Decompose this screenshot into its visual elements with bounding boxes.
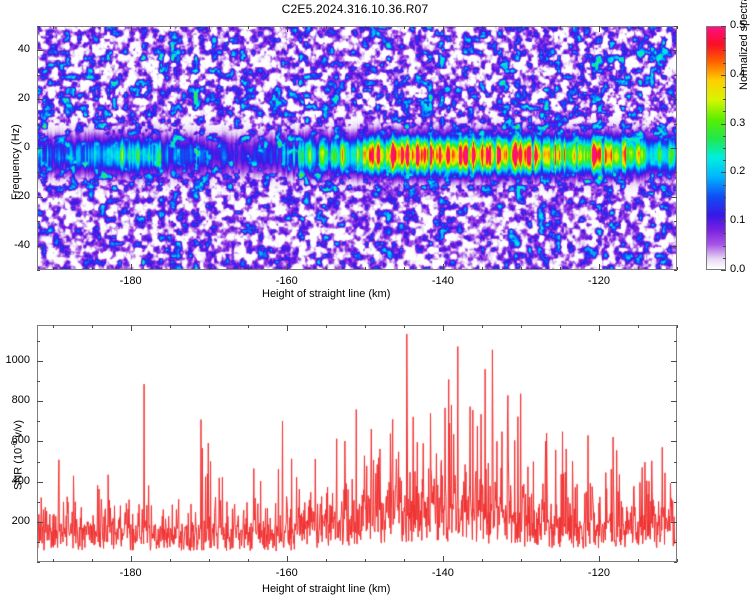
snr-xtick-minor xyxy=(560,559,561,562)
snr-ytick-major xyxy=(37,441,43,442)
snr-ytick-minor-right xyxy=(674,341,677,342)
spectrogram-ytick-major-right xyxy=(671,99,677,100)
snr-ytick-label: 1000 xyxy=(0,354,30,366)
snr-xtick-minor xyxy=(404,559,405,562)
snr-ytick-minor xyxy=(37,421,40,422)
snr-xtick-major-top xyxy=(287,325,288,331)
spectrogram-xtick-minor xyxy=(248,267,249,270)
snr-ytick-major-right xyxy=(671,361,677,362)
spectrogram-xtick-major-top xyxy=(443,26,444,32)
snr-xtick-label: -160 xyxy=(264,567,310,579)
spectrogram-xtick-minor xyxy=(170,267,171,270)
spectrogram-y-axis-title: Frequency (Hz) xyxy=(10,124,22,200)
snr-xtick-major xyxy=(131,556,132,562)
snr-xtick-minor-top xyxy=(677,325,678,328)
snr-ytick-major xyxy=(37,482,43,483)
spectrogram-xtick-minor xyxy=(365,267,366,270)
snr-y-axis-title-exponent: -6 xyxy=(10,441,19,448)
snr-xtick-minor xyxy=(92,559,93,562)
colorbar-title: Normalized spectral amplitude xyxy=(738,0,750,90)
snr-xtick-minor-top xyxy=(560,325,561,328)
spectrogram-xtick-minor-top xyxy=(404,26,405,29)
snr-ytick-major-right xyxy=(671,522,677,523)
spectrogram-xtick-minor-top xyxy=(92,26,93,29)
snr-y-axis-title: SNR (10-6 v/v) xyxy=(10,420,25,490)
colorbar-tick-minor xyxy=(723,87,726,88)
spectrogram-ytick-major-right xyxy=(671,148,677,149)
snr-xtick-minor xyxy=(170,559,171,562)
snr-xtick-major-top xyxy=(131,325,132,331)
snr-xtick-major xyxy=(287,556,288,562)
snr-ytick-minor xyxy=(37,542,40,543)
colorbar-tick-major xyxy=(721,270,726,271)
spectrogram-xtick-major-top xyxy=(131,26,132,32)
spectrogram-ytick-minor xyxy=(37,270,40,271)
colorbar-tick-minor xyxy=(723,38,726,39)
spectrogram-ytick-major xyxy=(37,197,43,198)
snr-xtick-label: -180 xyxy=(108,567,154,579)
snr-xtick-minor-top xyxy=(365,325,366,328)
snr-xtick-minor-top xyxy=(482,325,483,328)
colorbar-tick-minor xyxy=(723,246,726,247)
snr-xtick-major xyxy=(443,556,444,562)
spectrogram-xtick-minor-top xyxy=(560,26,561,29)
snr-ytick-label: 800 xyxy=(0,394,30,406)
snr-xtick-minor xyxy=(209,559,210,562)
spectrogram-xtick-minor-top xyxy=(53,26,54,29)
snr-xtick-minor-top xyxy=(638,325,639,328)
snr-xtick-minor-top xyxy=(53,325,54,328)
colorbar-tick-label: 0.2 xyxy=(730,165,750,177)
snr-ytick-minor xyxy=(37,502,40,503)
snr-xtick-minor xyxy=(521,559,522,562)
snr-ytick-major xyxy=(37,361,43,362)
colorbar-tick-major xyxy=(721,26,726,27)
page-title: C2E5.2024.316.10.36.R07 xyxy=(0,2,710,16)
spectrogram-xtick-minor-top xyxy=(638,26,639,29)
spectrogram-xtick-major xyxy=(443,264,444,270)
snr-xtick-minor xyxy=(365,559,366,562)
spectrogram-ytick-label: 40 xyxy=(0,43,30,55)
spectrogram-ytick-major xyxy=(37,50,43,51)
snr-xtick-minor xyxy=(482,559,483,562)
snr-ytick-major-right xyxy=(671,401,677,402)
colorbar-tick-label: 0.0 xyxy=(730,263,750,275)
spectrogram-x-axis-title: Height of straight line (km) xyxy=(262,288,390,300)
spectrogram-ytick-minor-right xyxy=(674,75,677,76)
snr-y-axis-title-suffix: v/v) xyxy=(13,420,25,441)
snr-xtick-major-top xyxy=(599,325,600,331)
spectrogram-xtick-minor-top xyxy=(521,26,522,29)
spectrogram-ytick-minor-right xyxy=(674,172,677,173)
colorbar-tick-major xyxy=(721,172,726,173)
snr-xtick-major-top xyxy=(443,325,444,331)
spectrogram-xtick-minor xyxy=(53,267,54,270)
colorbar-tick-minor xyxy=(723,209,726,210)
colorbar-tick-label: 0.3 xyxy=(730,117,750,129)
spectrogram-xtick-minor-top xyxy=(677,26,678,29)
snr-ytick-minor xyxy=(37,381,40,382)
spectrogram-ytick-major xyxy=(37,148,43,149)
spectrogram-ytick-major-right xyxy=(671,197,677,198)
snr-trace xyxy=(38,326,676,561)
snr-xtick-minor-top xyxy=(170,325,171,328)
colorbar-tick-minor xyxy=(723,63,726,64)
spectrogram-ytick-minor xyxy=(37,26,40,27)
spectrogram-xtick-minor xyxy=(209,267,210,270)
colorbar-tick-minor xyxy=(723,99,726,100)
snr-ytick-minor-right xyxy=(674,381,677,382)
spectrogram-xtick-minor xyxy=(638,267,639,270)
spectrogram-xtick-minor-top xyxy=(209,26,210,29)
spectrogram-xtick-label: -160 xyxy=(264,275,310,287)
spectrogram-ytick-minor-right xyxy=(674,221,677,222)
colorbar-tick-major xyxy=(721,221,726,222)
snr-ytick-major-right xyxy=(671,482,677,483)
spectrogram-ytick-major xyxy=(37,246,43,247)
spectrogram-ytick-minor-right xyxy=(674,26,677,27)
spectrogram-xtick-minor-top xyxy=(170,26,171,29)
spectrogram-xtick-minor xyxy=(326,267,327,270)
snr-xtick-minor xyxy=(677,559,678,562)
spectrogram-ytick-minor-right xyxy=(674,124,677,125)
snr-xtick-minor xyxy=(326,559,327,562)
snr-xtick-minor xyxy=(248,559,249,562)
spectrogram-ytick-major-right xyxy=(671,246,677,247)
snr-ytick-minor-right xyxy=(674,502,677,503)
snr-xtick-minor-top xyxy=(404,325,405,328)
spectrogram-xtick-major xyxy=(287,264,288,270)
snr-xtick-label: -140 xyxy=(420,567,466,579)
spectrogram-ytick-minor xyxy=(37,172,40,173)
spectrogram-ytick-minor xyxy=(37,75,40,76)
snr-xtick-label: -120 xyxy=(576,567,622,579)
snr-ytick-minor-right xyxy=(674,421,677,422)
colorbar-tick-minor xyxy=(723,185,726,186)
snr-xtick-minor xyxy=(638,559,639,562)
spectrogram-xtick-minor-top xyxy=(365,26,366,29)
colorbar-tick-minor xyxy=(723,258,726,259)
colorbar-tick-minor xyxy=(723,148,726,149)
snr-ytick-minor-right xyxy=(674,562,677,563)
spectrogram-xtick-minor xyxy=(482,267,483,270)
spectrogram-xtick-minor xyxy=(92,267,93,270)
spectrogram-ytick-major-right xyxy=(671,50,677,51)
snr-y-axis-title-prefix: SNR (10 xyxy=(13,448,25,490)
snr-ytick-major xyxy=(37,522,43,523)
spectrogram-xtick-minor xyxy=(521,267,522,270)
snr-ytick-major-right xyxy=(671,441,677,442)
spectrogram-xtick-label: -140 xyxy=(420,275,466,287)
colorbar-tick-major xyxy=(721,75,726,76)
snr-ytick-minor xyxy=(37,562,40,563)
spectrogram-ytick-minor xyxy=(37,124,40,125)
spectrogram-ytick-major xyxy=(37,99,43,100)
spectrogram-xtick-minor xyxy=(677,267,678,270)
snr-x-axis-title: Height of straight line (km) xyxy=(262,583,390,595)
spectrogram-xtick-minor-top xyxy=(326,26,327,29)
snr-xtick-minor-top xyxy=(326,325,327,328)
snr-xtick-minor-top xyxy=(209,325,210,328)
snr-xtick-minor-top xyxy=(521,325,522,328)
spectrogram-xtick-label: -180 xyxy=(108,275,154,287)
spectrogram-xtick-major xyxy=(599,264,600,270)
spectrogram-xtick-major-top xyxy=(599,26,600,32)
colorbar-tick-minor xyxy=(723,197,726,198)
snr-ytick-minor xyxy=(37,462,40,463)
spectrogram-image xyxy=(38,27,676,269)
spectrogram-xtick-major-top xyxy=(287,26,288,32)
snr-ytick-minor xyxy=(37,341,40,342)
snr-ytick-label: 200 xyxy=(0,515,30,527)
spectrogram-xtick-minor xyxy=(404,267,405,270)
spectrogram-ytick-label: 20 xyxy=(0,92,30,104)
spectrogram-plot-area xyxy=(37,26,677,270)
snr-ytick-minor-right xyxy=(674,462,677,463)
figure-root: C2E5.2024.316.10.36.R07 -180-160-140-120… xyxy=(0,0,750,600)
colorbar-tick-label: 0.1 xyxy=(730,214,750,226)
colorbar-tick-minor xyxy=(723,160,726,161)
snr-xtick-minor-top xyxy=(92,325,93,328)
snr-xtick-minor-top xyxy=(248,325,249,328)
spectrogram-xtick-label: -120 xyxy=(576,275,622,287)
snr-xtick-major xyxy=(599,556,600,562)
snr-plot-area xyxy=(37,325,677,562)
colorbar-tick-minor xyxy=(723,50,726,51)
spectrogram-xtick-major xyxy=(131,264,132,270)
spectrogram-ytick-label: -40 xyxy=(0,239,30,251)
spectrogram-ytick-minor xyxy=(37,221,40,222)
spectrogram-xtick-minor xyxy=(560,267,561,270)
snr-ytick-minor-right xyxy=(674,542,677,543)
spectrogram-xtick-minor-top xyxy=(482,26,483,29)
colorbar-tick-minor xyxy=(723,111,726,112)
snr-ytick-major xyxy=(37,401,43,402)
colorbar-tick-minor xyxy=(723,136,726,137)
spectrogram-xtick-minor-top xyxy=(248,26,249,29)
colorbar-tick-minor xyxy=(723,233,726,234)
snr-xtick-minor xyxy=(53,559,54,562)
spectrogram-ytick-minor-right xyxy=(674,270,677,271)
colorbar-tick-major xyxy=(721,124,726,125)
